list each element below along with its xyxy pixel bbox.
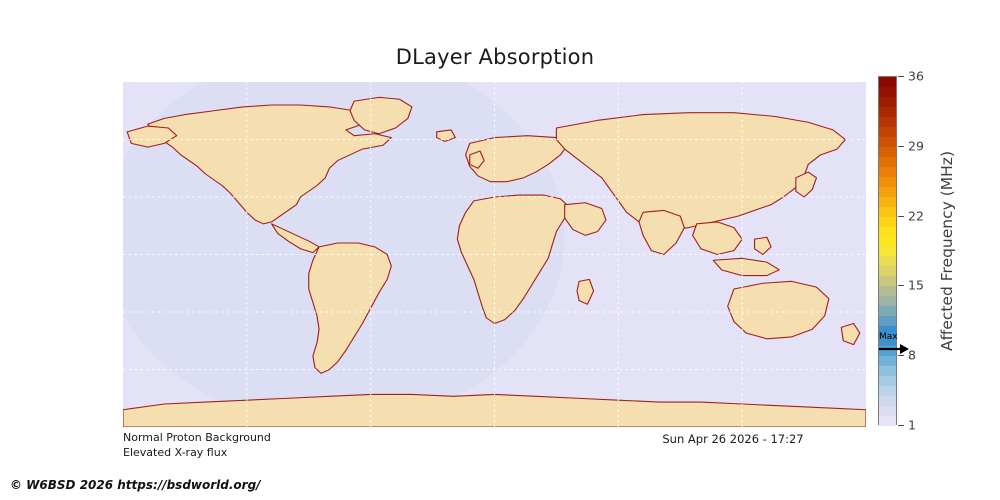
colorbar-band-23 xyxy=(879,187,896,197)
colorbar-tick-label-1: 1 xyxy=(908,418,916,433)
colorbar-tick-label-29: 29 xyxy=(908,138,924,153)
colorbar-tick-29 xyxy=(898,146,904,147)
timestamp: Sun Apr 26 2026 - 17:27 xyxy=(600,432,866,446)
colorbar-band-10 xyxy=(879,316,896,326)
colorbar-band-7 xyxy=(879,346,896,356)
colorbar-band-17 xyxy=(879,246,896,256)
colorbar-band-21 xyxy=(879,207,896,217)
colorbar[interactable] xyxy=(878,76,897,425)
colorbar-axis-label-text: Affected Frequency (MHz) xyxy=(938,151,956,351)
colorbar-tick-22 xyxy=(898,216,904,217)
colorbar-band-32 xyxy=(879,97,896,107)
colorbar-gradient xyxy=(878,76,897,425)
status-annotations: Normal Proton Background Elevated X-ray … xyxy=(123,430,271,460)
colorbar-tick-36 xyxy=(898,76,904,77)
colorbar-band-4 xyxy=(879,376,896,386)
world-map[interactable] xyxy=(123,82,866,427)
colorbar-band-26 xyxy=(879,157,896,167)
colorbar-band-14 xyxy=(879,276,896,286)
colorbar-band-25 xyxy=(879,167,896,177)
colorbar-axis-label: Affected Frequency (MHz) xyxy=(936,76,958,425)
colorbar-band-33 xyxy=(879,87,896,97)
colorbar-band-19 xyxy=(879,227,896,237)
copyright-notice: © W6BSD 2026 https://bsdworld.org/ xyxy=(10,478,261,492)
colorbar-band-34 xyxy=(879,77,896,87)
colorbar-tick-15 xyxy=(898,285,904,286)
colorbar-band-2 xyxy=(879,396,896,406)
colorbar-band-0 xyxy=(879,416,896,426)
colorbar-band-9 xyxy=(879,326,896,336)
dlayer-absorption-map-page: DLayer Absorption xyxy=(0,0,1000,500)
colorbar-tick-label-8: 8 xyxy=(908,348,916,363)
colorbar-band-28 xyxy=(879,137,896,147)
colorbar-band-31 xyxy=(879,107,896,117)
colorbar-tick-8 xyxy=(898,355,904,356)
colorbar-band-6 xyxy=(879,356,896,366)
colorbar-band-30 xyxy=(879,117,896,127)
colorbar-band-1 xyxy=(879,406,896,416)
colorbar-band-29 xyxy=(879,127,896,137)
colorbar-band-3 xyxy=(879,386,896,396)
map-svg xyxy=(123,82,866,427)
colorbar-band-13 xyxy=(879,286,896,296)
status-proton-background: Normal Proton Background xyxy=(123,430,271,445)
colorbar-tick-1 xyxy=(898,425,904,426)
colorbar-band-27 xyxy=(879,147,896,157)
colorbar-band-11 xyxy=(879,306,896,316)
colorbar-band-5 xyxy=(879,366,896,376)
colorbar-band-15 xyxy=(879,266,896,276)
colorbar-tick-label-36: 36 xyxy=(908,69,924,84)
colorbar-band-24 xyxy=(879,177,896,187)
colorbar-band-22 xyxy=(879,197,896,207)
colorbar-tick-label-15: 15 xyxy=(908,278,924,293)
page-title: DLayer Absorption xyxy=(0,45,990,69)
status-xray-flux: Elevated X-ray flux xyxy=(123,445,271,460)
colorbar-band-8 xyxy=(879,336,896,346)
colorbar-tick-label-22: 22 xyxy=(908,208,924,223)
colorbar-band-18 xyxy=(879,237,896,247)
colorbar-band-12 xyxy=(879,296,896,306)
colorbar-band-20 xyxy=(879,217,896,227)
colorbar-band-16 xyxy=(879,256,896,266)
